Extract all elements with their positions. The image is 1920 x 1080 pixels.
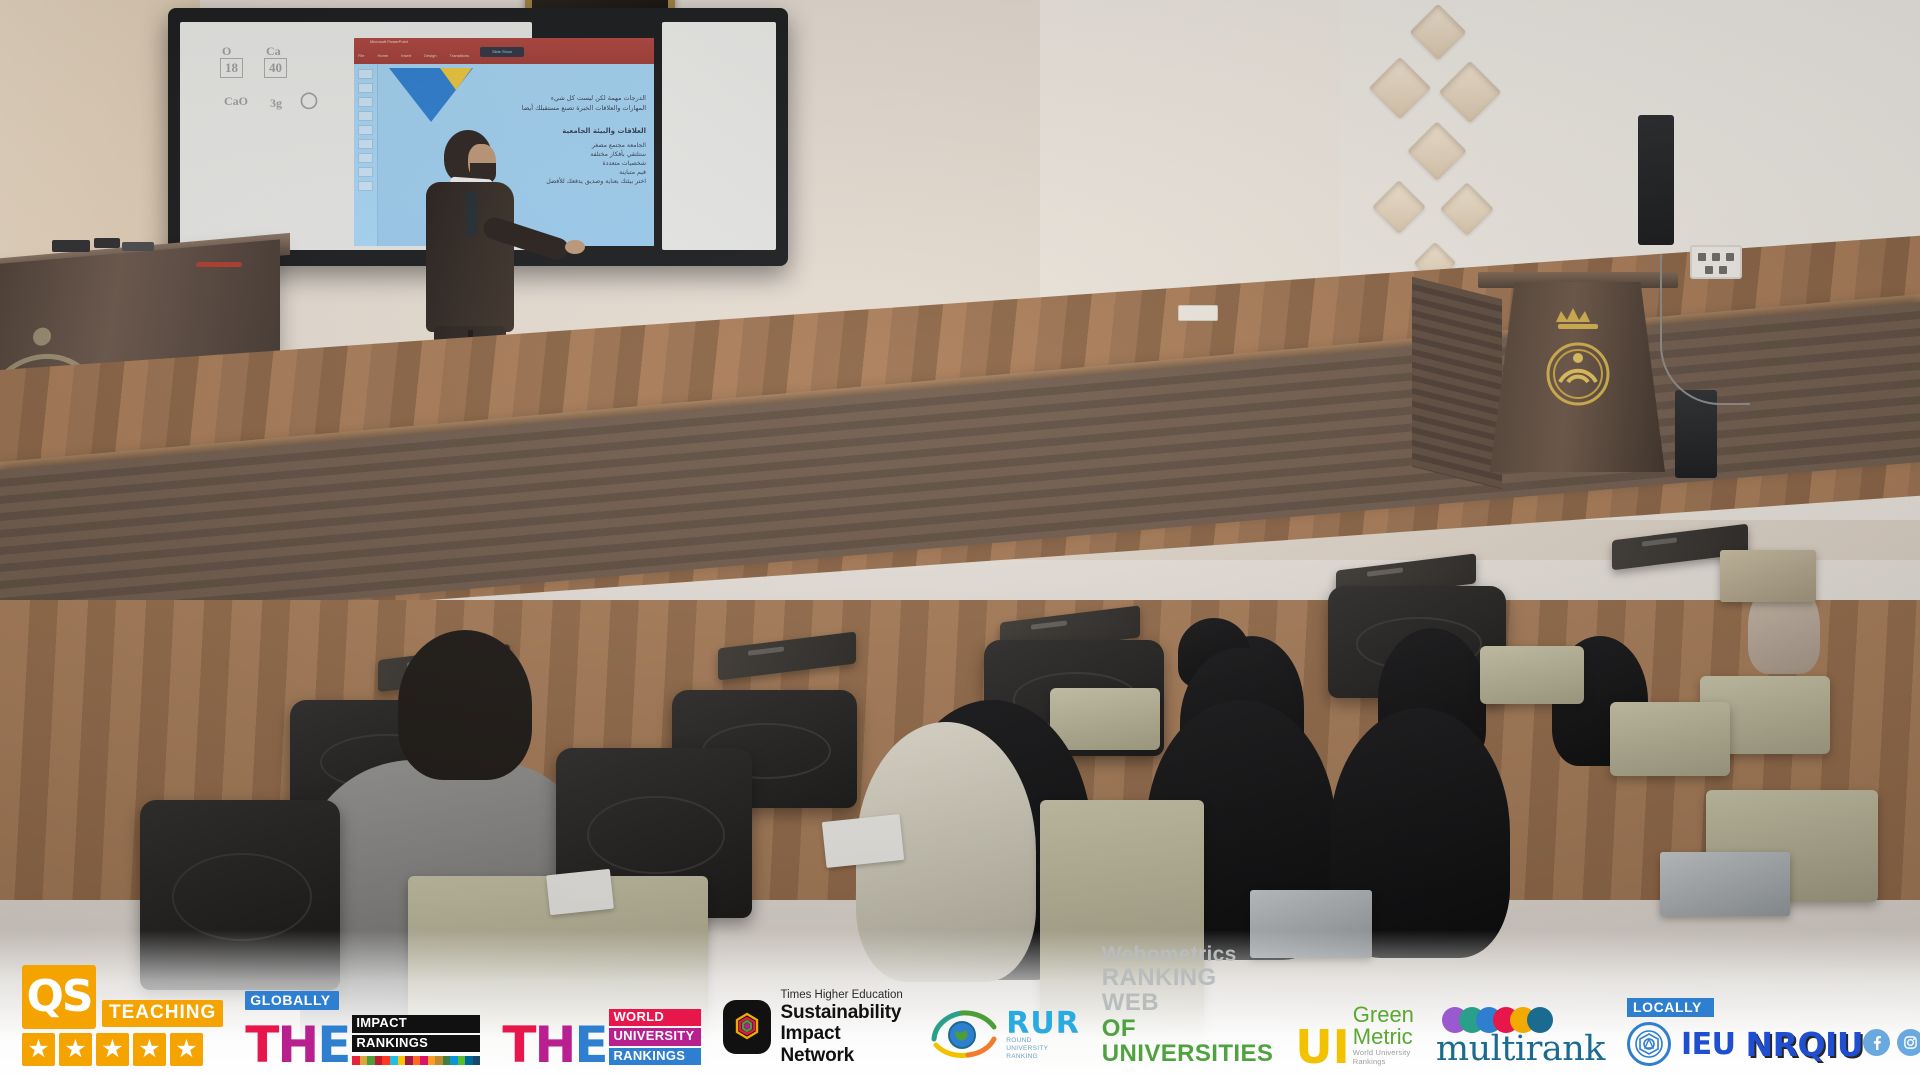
sdg-rainbow-bar xyxy=(352,1056,480,1065)
sustainability-line1: Sustainability xyxy=(780,1002,906,1023)
ribbon-tab-insert[interactable]: Insert xyxy=(401,53,411,58)
ieu-seal-icon xyxy=(1627,1022,1671,1066)
whiteboard-note-0: O xyxy=(222,44,231,59)
webometrics-brand: Webometrics xyxy=(1102,944,1274,965)
slide-heading: العلاقات والبيئة الجامعية xyxy=(562,126,646,136)
whiteboard-note-1: 18 xyxy=(220,58,243,78)
laptop xyxy=(1660,852,1790,916)
the-world-line1: WORLD xyxy=(609,1009,700,1026)
slide-lead-line-2: المهارات والعلاقات الخبرة تصنع مستقبلك أ… xyxy=(446,104,646,113)
uigm-mark: UI xyxy=(1295,1029,1349,1066)
slide-shape-accent xyxy=(440,68,472,90)
ribbon-tab-list[interactable]: File Home Insert Design Transitions View xyxy=(358,53,491,58)
u-multirank-logo: multirank xyxy=(1436,1007,1605,1066)
qs-star: ★ xyxy=(59,1033,92,1066)
ui-greenmetric-logo: UI Green Metric World University Ranking… xyxy=(1295,1004,1414,1066)
rur-sub2: UNIVERSITY xyxy=(1006,1045,1080,1053)
whiteboard-note-2: Ca xyxy=(266,44,281,59)
powerpoint-ribbon: Microsoft PowerPoint File Home Insert De… xyxy=(354,38,654,64)
uigm-line2: Metric xyxy=(1353,1026,1414,1048)
slide-lead-line-1: الدرجات مهمة لكن ليست كل شيء xyxy=(446,94,646,103)
brand-banner: QS TEACHING ★ ★ ★ ★ ★ GLOBALLY THE xyxy=(0,930,1920,1080)
qs-star: ★ xyxy=(170,1033,203,1066)
the-impact-line1: IMPACT xyxy=(352,1015,480,1032)
multirank-word: multirank xyxy=(1436,1033,1605,1066)
the-sustainability-impact-network-logo: Times Higher Education Sustainability Im… xyxy=(723,989,907,1066)
webometrics-line2: OF UNIVERSITIES xyxy=(1102,1016,1274,1066)
podium-side-panel xyxy=(1412,277,1502,489)
whiteboard-note-6: 3g xyxy=(270,96,282,111)
ribbon-tab-file[interactable]: File xyxy=(358,53,364,58)
student-hair xyxy=(398,630,532,780)
slide-thumbnail-rail[interactable] xyxy=(354,64,378,246)
nrqiu-mark: NRQIU xyxy=(1745,1025,1863,1064)
notebook-paper xyxy=(822,814,904,868)
the-world-line3: RANKINGS xyxy=(609,1048,700,1065)
qs-teaching-label: TEACHING xyxy=(102,1000,223,1027)
whiteboard-note-5: CaO xyxy=(224,94,248,109)
ribbon-title: Microsoft PowerPoint xyxy=(370,39,408,44)
whiteboard-note-3: 40 xyxy=(264,58,287,78)
webometrics-logo: Webometrics RANKING WEB OF UNIVERSITIES xyxy=(1102,944,1274,1066)
social-links: alkafeeleduiq xyxy=(1863,1023,1920,1066)
facebook-icon[interactable] xyxy=(1863,1029,1890,1056)
seat-cushion xyxy=(1610,702,1730,776)
screenshot-root: O 18 Ca 40 Al₂O₃ CaO 3g ◯ Microsoft Powe… xyxy=(0,0,1920,1080)
the-impact-line2: RANKINGS xyxy=(352,1035,480,1052)
qs-star-rating: ★ ★ ★ ★ ★ xyxy=(22,1033,223,1066)
local-rankings-group: LOCALLY IEU NRQIU xyxy=(1627,998,1863,1066)
rur-eye-icon xyxy=(928,1005,1002,1066)
qs-mark: QS xyxy=(22,965,96,1029)
bag xyxy=(1720,550,1816,602)
the-impact-mark: THE xyxy=(245,1025,349,1066)
whiteboard-right-panel xyxy=(662,22,776,250)
ribbon-tab-transitions[interactable]: Transitions xyxy=(450,53,469,58)
lecture-hall-photo: O 18 Ca 40 Al₂O₃ CaO 3g ◯ Microsoft Powe… xyxy=(0,0,1920,1080)
sustainability-hex-icon xyxy=(723,1000,772,1054)
ribbon-tab-home[interactable]: Home xyxy=(377,53,388,58)
qs-star: ★ xyxy=(96,1033,129,1066)
rur-logo: RUR ROUND UNIVERSITY RANKING xyxy=(928,1005,1080,1066)
the-world-line2: UNIVERSITY xyxy=(609,1028,700,1045)
slideshow-chip[interactable]: Slide Show xyxy=(480,47,524,57)
the-impact-rankings-logo: GLOBALLY THE IMPACT RANKINGS xyxy=(245,991,480,1066)
wall-data-plate xyxy=(1178,305,1218,321)
wall-speaker xyxy=(1638,115,1674,245)
qs-teaching-logo: QS TEACHING ★ ★ ★ ★ ★ xyxy=(22,965,223,1066)
desk-equipment xyxy=(52,238,162,258)
ribbon-tab-design[interactable]: Design xyxy=(424,53,436,58)
notebook-paper xyxy=(546,869,614,915)
rankings-logo-strip: QS TEACHING ★ ★ ★ ★ ★ GLOBALLY THE xyxy=(22,944,1863,1066)
power-cable xyxy=(1660,255,1750,405)
seat-cushion xyxy=(1050,688,1160,750)
the-world-university-rankings-logo: THE WORLD UNIVERSITY RANKINGS xyxy=(502,1009,700,1066)
qs-star: ★ xyxy=(22,1033,55,1066)
locally-label: LOCALLY xyxy=(1627,998,1714,1017)
uigm-line1: Green xyxy=(1353,1004,1414,1026)
globally-label: GLOBALLY xyxy=(245,991,339,1010)
the-world-mark: THE xyxy=(502,1025,606,1066)
seat-cushion xyxy=(1480,646,1584,704)
rur-sub3: RANKING xyxy=(1006,1053,1080,1061)
sustainability-eyebrow: Times Higher Education xyxy=(780,989,906,1002)
uigm-sub: World University Rankings xyxy=(1353,1048,1414,1066)
sustainability-line2: Impact Network xyxy=(780,1023,906,1066)
university-emblem xyxy=(1530,300,1626,418)
ieu-mark: IEU xyxy=(1681,1027,1736,1062)
webometrics-line1: RANKING WEB xyxy=(1102,965,1274,1015)
rur-mark: RUR xyxy=(1006,1010,1080,1037)
instagram-icon[interactable] xyxy=(1897,1029,1920,1056)
desk-marker xyxy=(196,262,242,267)
qs-star: ★ xyxy=(133,1033,166,1066)
